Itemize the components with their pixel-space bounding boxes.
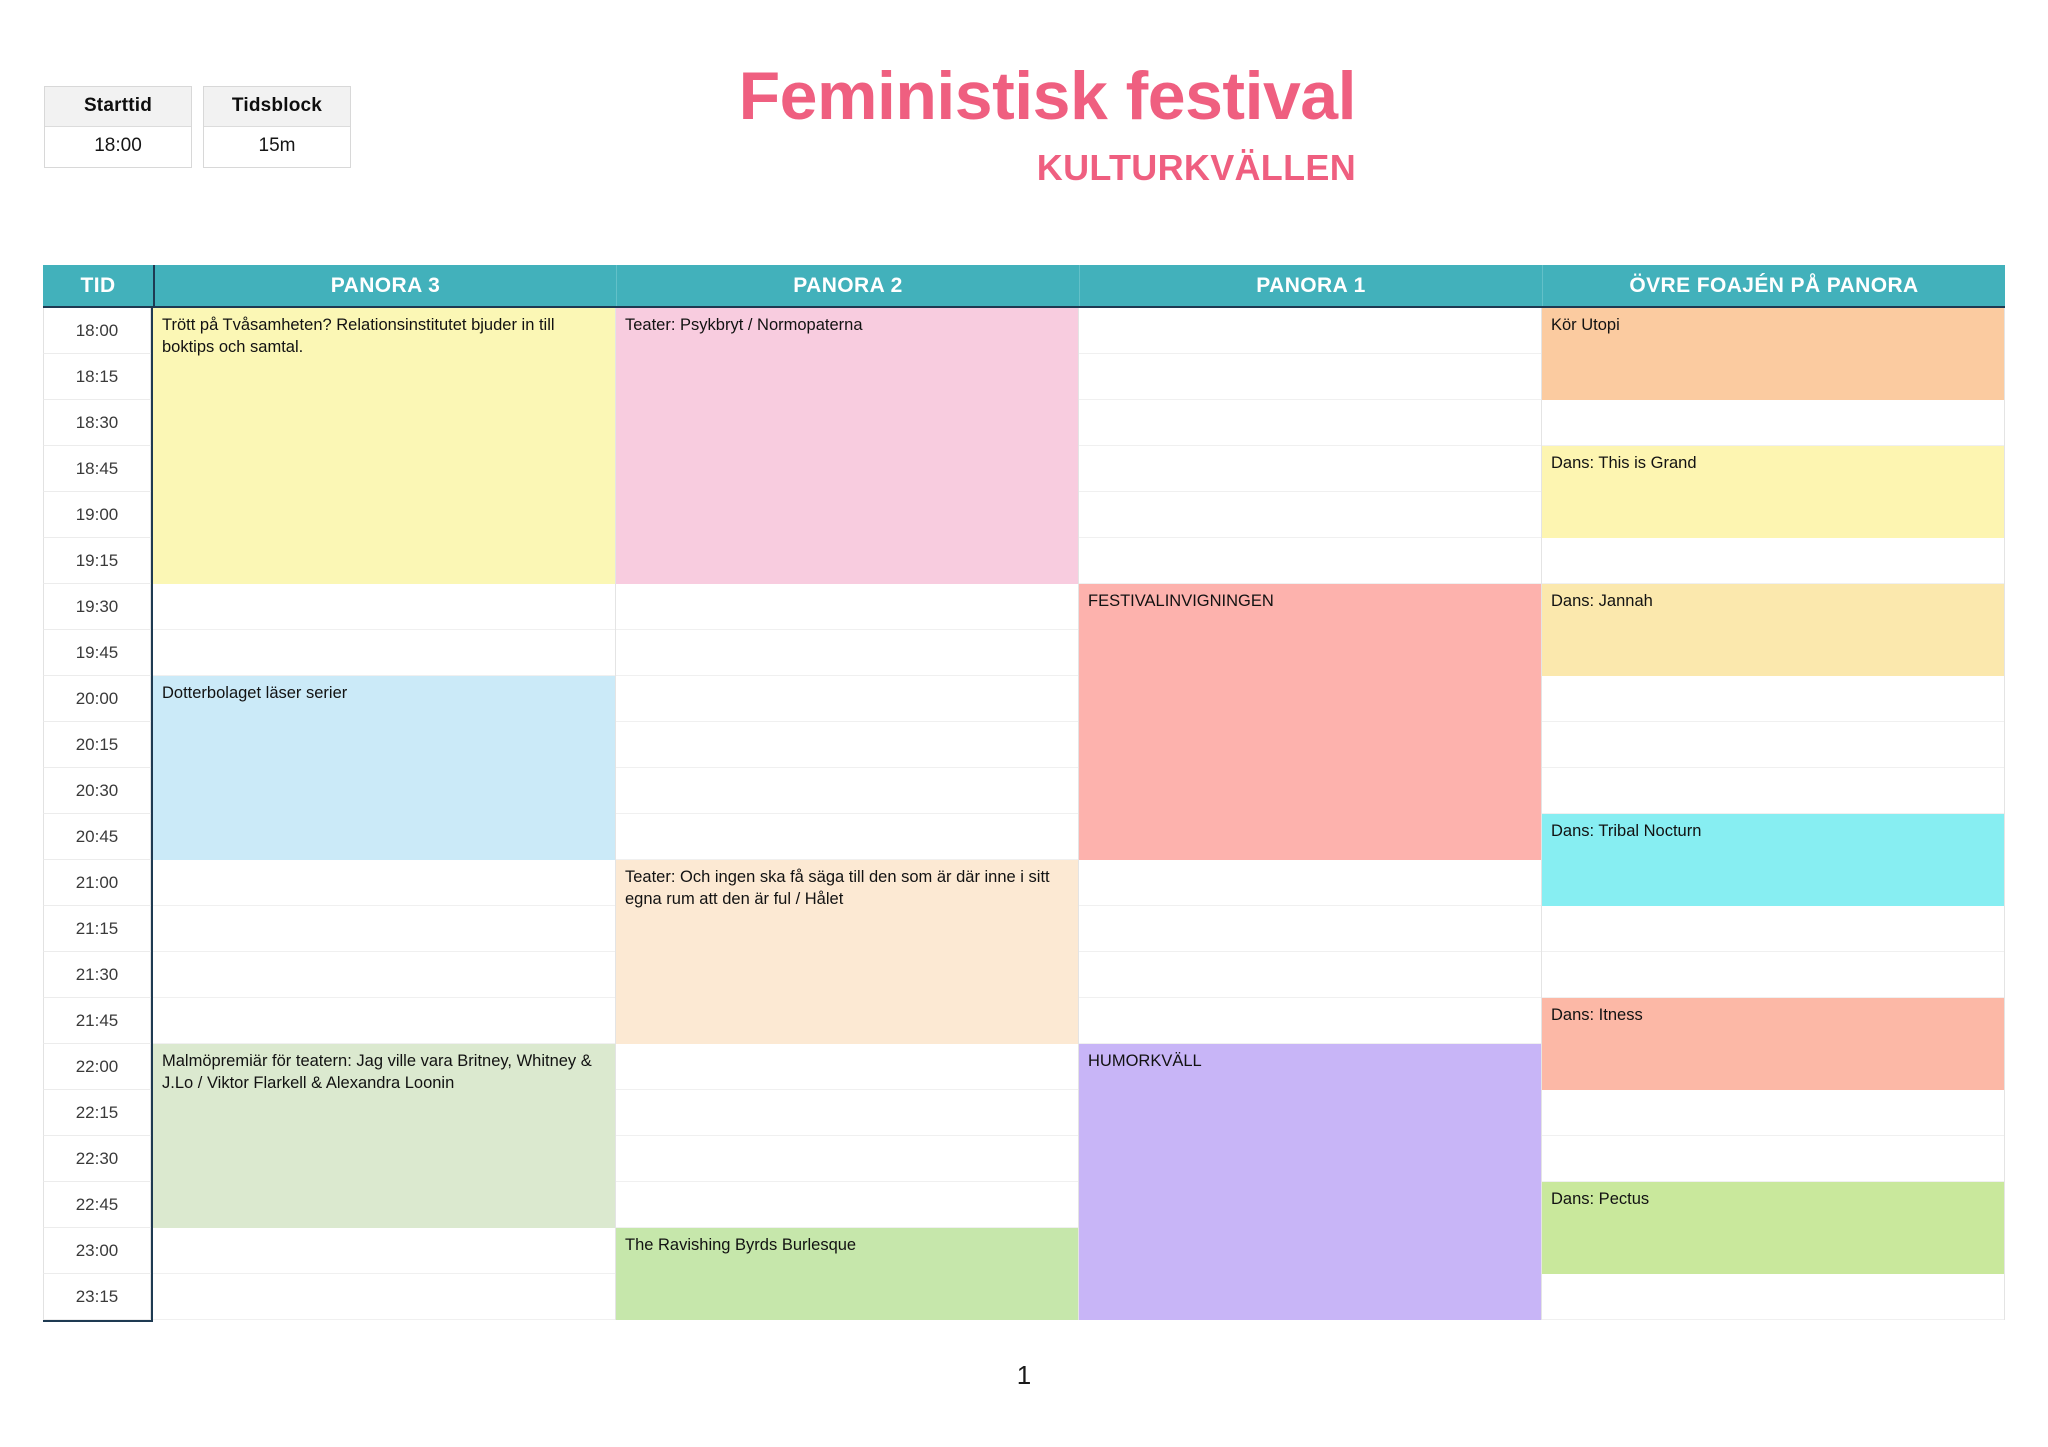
grid-row-line: [616, 1182, 1078, 1228]
time-cell: 19:00: [43, 492, 151, 538]
venue-column-panora-1: FESTIVALINVIGNINGENHUMORKVÄLL: [1079, 308, 1542, 1320]
grid-row-line: [1542, 1136, 2004, 1182]
grid-row-line: [1079, 860, 1541, 906]
grid-row-line: [1079, 492, 1541, 538]
grid-row-line: [153, 1228, 615, 1274]
event-title: Teater: Och ingen ska få säga till den s…: [625, 868, 1050, 908]
schedule-body: 18:0018:1518:3018:4519:0019:1519:3019:45…: [43, 306, 2005, 1320]
grid-row-line: [616, 630, 1078, 676]
grid-row-line: [1542, 768, 2004, 814]
column-header-panora-1: PANORA 1: [1079, 265, 1542, 306]
grid-row-line: [1079, 538, 1541, 584]
tidsblock-label: Tidsblock: [204, 87, 350, 127]
grid-row-line: [1079, 446, 1541, 492]
time-cell: 19:30: [43, 584, 151, 630]
page-subtitle: KULTURKVÄLLEN: [656, 150, 1356, 186]
settings-controls: Starttid 18:00 Tidsblock 15m: [44, 86, 351, 168]
event-title: HUMORKVÄLL: [1088, 1052, 1202, 1070]
grid-row-line: [616, 1136, 1078, 1182]
schedule-event[interactable]: Teater: Och ingen ska få säga till den s…: [616, 860, 1078, 1044]
time-cell: 21:15: [43, 906, 151, 952]
time-column: 18:0018:1518:3018:4519:0019:1519:3019:45…: [43, 308, 153, 1320]
time-cell: 19:15: [43, 538, 151, 584]
venue-column-ovre-foajen: Kör UtopiDans: This is GrandDans: Jannah…: [1542, 308, 2005, 1320]
venue-column-panora-2: Teater: Psykbryt / NormopaternaTeater: O…: [616, 308, 1079, 1320]
grid-row-line: [153, 952, 615, 998]
schedule-event[interactable]: Dans: Jannah: [1542, 584, 2004, 676]
time-cell: 20:45: [43, 814, 151, 860]
grid-row-line: [1542, 906, 2004, 952]
grid-row-line: [616, 584, 1078, 630]
grid-row-line: [1079, 400, 1541, 446]
event-title: The Ravishing Byrds Burlesque: [625, 1236, 856, 1254]
grid-row-line: [153, 860, 615, 906]
grid-row-line: [616, 676, 1078, 722]
time-cell: 18:00: [43, 308, 151, 354]
column-header-tid: TID: [43, 265, 153, 306]
grid-row-line: [1079, 354, 1541, 400]
page-number: 1: [0, 1360, 2048, 1391]
time-cell: 21:45: [43, 998, 151, 1044]
schedule-event[interactable]: The Ravishing Byrds Burlesque: [616, 1228, 1078, 1320]
starttid-value[interactable]: 18:00: [45, 127, 191, 167]
event-title: FESTIVALINVIGNINGEN: [1088, 592, 1274, 610]
grid-row-line: [1542, 1274, 2004, 1320]
grid-row-line: [153, 630, 615, 676]
grid-row-line: [1079, 906, 1541, 952]
event-title: Dans: Itness: [1551, 1006, 1643, 1024]
grid-row-line: [153, 998, 615, 1044]
grid-row-line: [616, 722, 1078, 768]
grid-row-line: [1542, 1090, 2004, 1136]
time-cell: 20:15: [43, 722, 151, 768]
column-header-panora-2: PANORA 2: [616, 265, 1079, 306]
schedule-event[interactable]: Dans: This is Grand: [1542, 446, 2004, 538]
schedule-event[interactable]: Dans: Itness: [1542, 998, 2004, 1090]
event-title: Dans: Pectus: [1551, 1190, 1649, 1208]
time-cell: 21:00: [43, 860, 151, 906]
schedule-event[interactable]: Dans: Pectus: [1542, 1182, 2004, 1274]
column-header-ovre-foajen: ÖVRE FOAJÉN PÅ PANORA: [1542, 265, 2005, 306]
time-cell: 22:00: [43, 1044, 151, 1090]
time-cell: 22:45: [43, 1182, 151, 1228]
time-cell: 20:30: [43, 768, 151, 814]
grid-row-line: [1542, 722, 2004, 768]
event-title: Teater: Psykbryt / Normopaterna: [625, 316, 863, 334]
starttid-label: Starttid: [45, 87, 191, 127]
grid-row-line: [1079, 308, 1541, 354]
time-cell: 23:15: [43, 1274, 151, 1320]
schedule-event[interactable]: Dotterbolaget läser serier: [153, 676, 615, 860]
event-title: Dans: This is Grand: [1551, 454, 1697, 472]
grid-row-line: [1079, 952, 1541, 998]
schedule-event[interactable]: Kör Utopi: [1542, 308, 2004, 400]
grid-bottom-rule: [43, 1320, 153, 1322]
event-title: Malmöpremiär för teatern: Jag ville vara…: [162, 1052, 592, 1092]
time-cell: 20:00: [43, 676, 151, 722]
tidsblock-control[interactable]: Tidsblock 15m: [203, 86, 351, 168]
schedule-event[interactable]: HUMORKVÄLL: [1079, 1044, 1541, 1320]
festival-header: Feministisk festival KULTURKVÄLLEN: [656, 62, 1356, 186]
time-cell: 18:30: [43, 400, 151, 446]
grid-row-line: [616, 1044, 1078, 1090]
grid-row-line: [1079, 998, 1541, 1044]
schedule-event[interactable]: Malmöpremiär för teatern: Jag ville vara…: [153, 1044, 615, 1228]
grid-row-line: [153, 906, 615, 952]
grid-row-line: [1542, 676, 2004, 722]
time-cell: 23:00: [43, 1228, 151, 1274]
grid-row-line: [1542, 400, 2004, 446]
time-cell: 22:15: [43, 1090, 151, 1136]
event-title: Kör Utopi: [1551, 316, 1620, 334]
grid-row-line: [1542, 952, 2004, 998]
grid-row-line: [616, 814, 1078, 860]
column-header-panora-3: PANORA 3: [153, 265, 616, 306]
schedule-header-row: TID PANORA 3 PANORA 2 PANORA 1 ÖVRE FOAJ…: [43, 265, 2005, 306]
tidsblock-value[interactable]: 15m: [204, 127, 350, 167]
grid-row-line: [153, 1274, 615, 1320]
event-title: Dotterbolaget läser serier: [162, 684, 347, 702]
event-title: Dans: Jannah: [1551, 592, 1653, 610]
schedule-event[interactable]: Teater: Psykbryt / Normopaterna: [616, 308, 1078, 584]
time-cell: 21:30: [43, 952, 151, 998]
schedule-grid: TID PANORA 3 PANORA 2 PANORA 1 ÖVRE FOAJ…: [43, 265, 2005, 1322]
event-title: Dans: Tribal Nocturn: [1551, 822, 1701, 840]
event-title: Trött på Tvåsamheten? Relationsinstitute…: [162, 316, 555, 356]
venue-column-panora-3: Trött på Tvåsamheten? Relationsinstitute…: [153, 308, 616, 1320]
starttid-control[interactable]: Starttid 18:00: [44, 86, 192, 168]
grid-row-line: [616, 768, 1078, 814]
grid-row-line: [153, 584, 615, 630]
schedule-event[interactable]: Dans: Tribal Nocturn: [1542, 814, 2004, 906]
time-cell: 22:30: [43, 1136, 151, 1182]
grid-row-line: [1542, 538, 2004, 584]
schedule-event[interactable]: Trött på Tvåsamheten? Relationsinstitute…: [153, 308, 615, 584]
page-title: Feministisk festival: [656, 62, 1356, 130]
time-cell: 18:45: [43, 446, 151, 492]
schedule-event[interactable]: FESTIVALINVIGNINGEN: [1079, 584, 1541, 860]
grid-row-line: [616, 1090, 1078, 1136]
time-cell: 19:45: [43, 630, 151, 676]
time-cell: 18:15: [43, 354, 151, 400]
